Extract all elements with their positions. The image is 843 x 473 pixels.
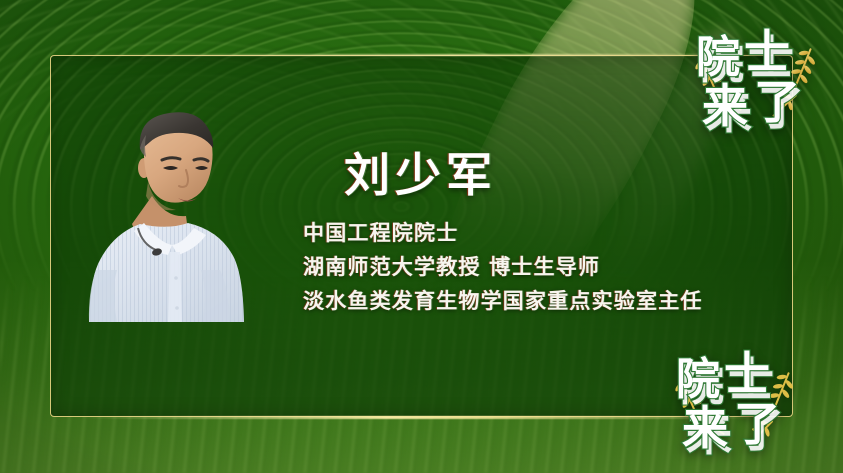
credential-line-2: 湖南师范大学教授 博士生导师 (303, 250, 703, 284)
program-logo-top: 院 士 来 了 院 士 来 了 (684, 24, 834, 136)
program-logo-bottom: 院 士 来 了 院 士 来 了 (664, 346, 814, 458)
guest-portrait (78, 110, 246, 322)
logo-char-4: 了 (734, 397, 780, 451)
logo-char-1: 院 (696, 32, 740, 83)
guest-name: 刘少军 (344, 139, 497, 205)
logo-char-2: 士 (744, 25, 790, 79)
logo-char-3: 来 (702, 79, 748, 133)
logo-char-4: 了 (754, 75, 800, 129)
logo-char-3: 来 (682, 401, 728, 455)
guest-credentials: 中国工程院院士 湖南师范大学教授 博士生导师 淡水鱼类发育生物学国家重点实验室主… (303, 216, 703, 318)
logo-char-2: 士 (724, 347, 770, 401)
credential-line-1: 中国工程院院士 (303, 216, 703, 250)
broadcast-frame: 刘少军 中国工程院院士 湖南师范大学教授 博士生导师 淡水鱼类发育生物学国家重点… (0, 0, 843, 473)
logo-char-1: 院 (676, 354, 720, 405)
credential-line-3: 淡水鱼类发育生物学国家重点实验室主任 (303, 284, 703, 318)
